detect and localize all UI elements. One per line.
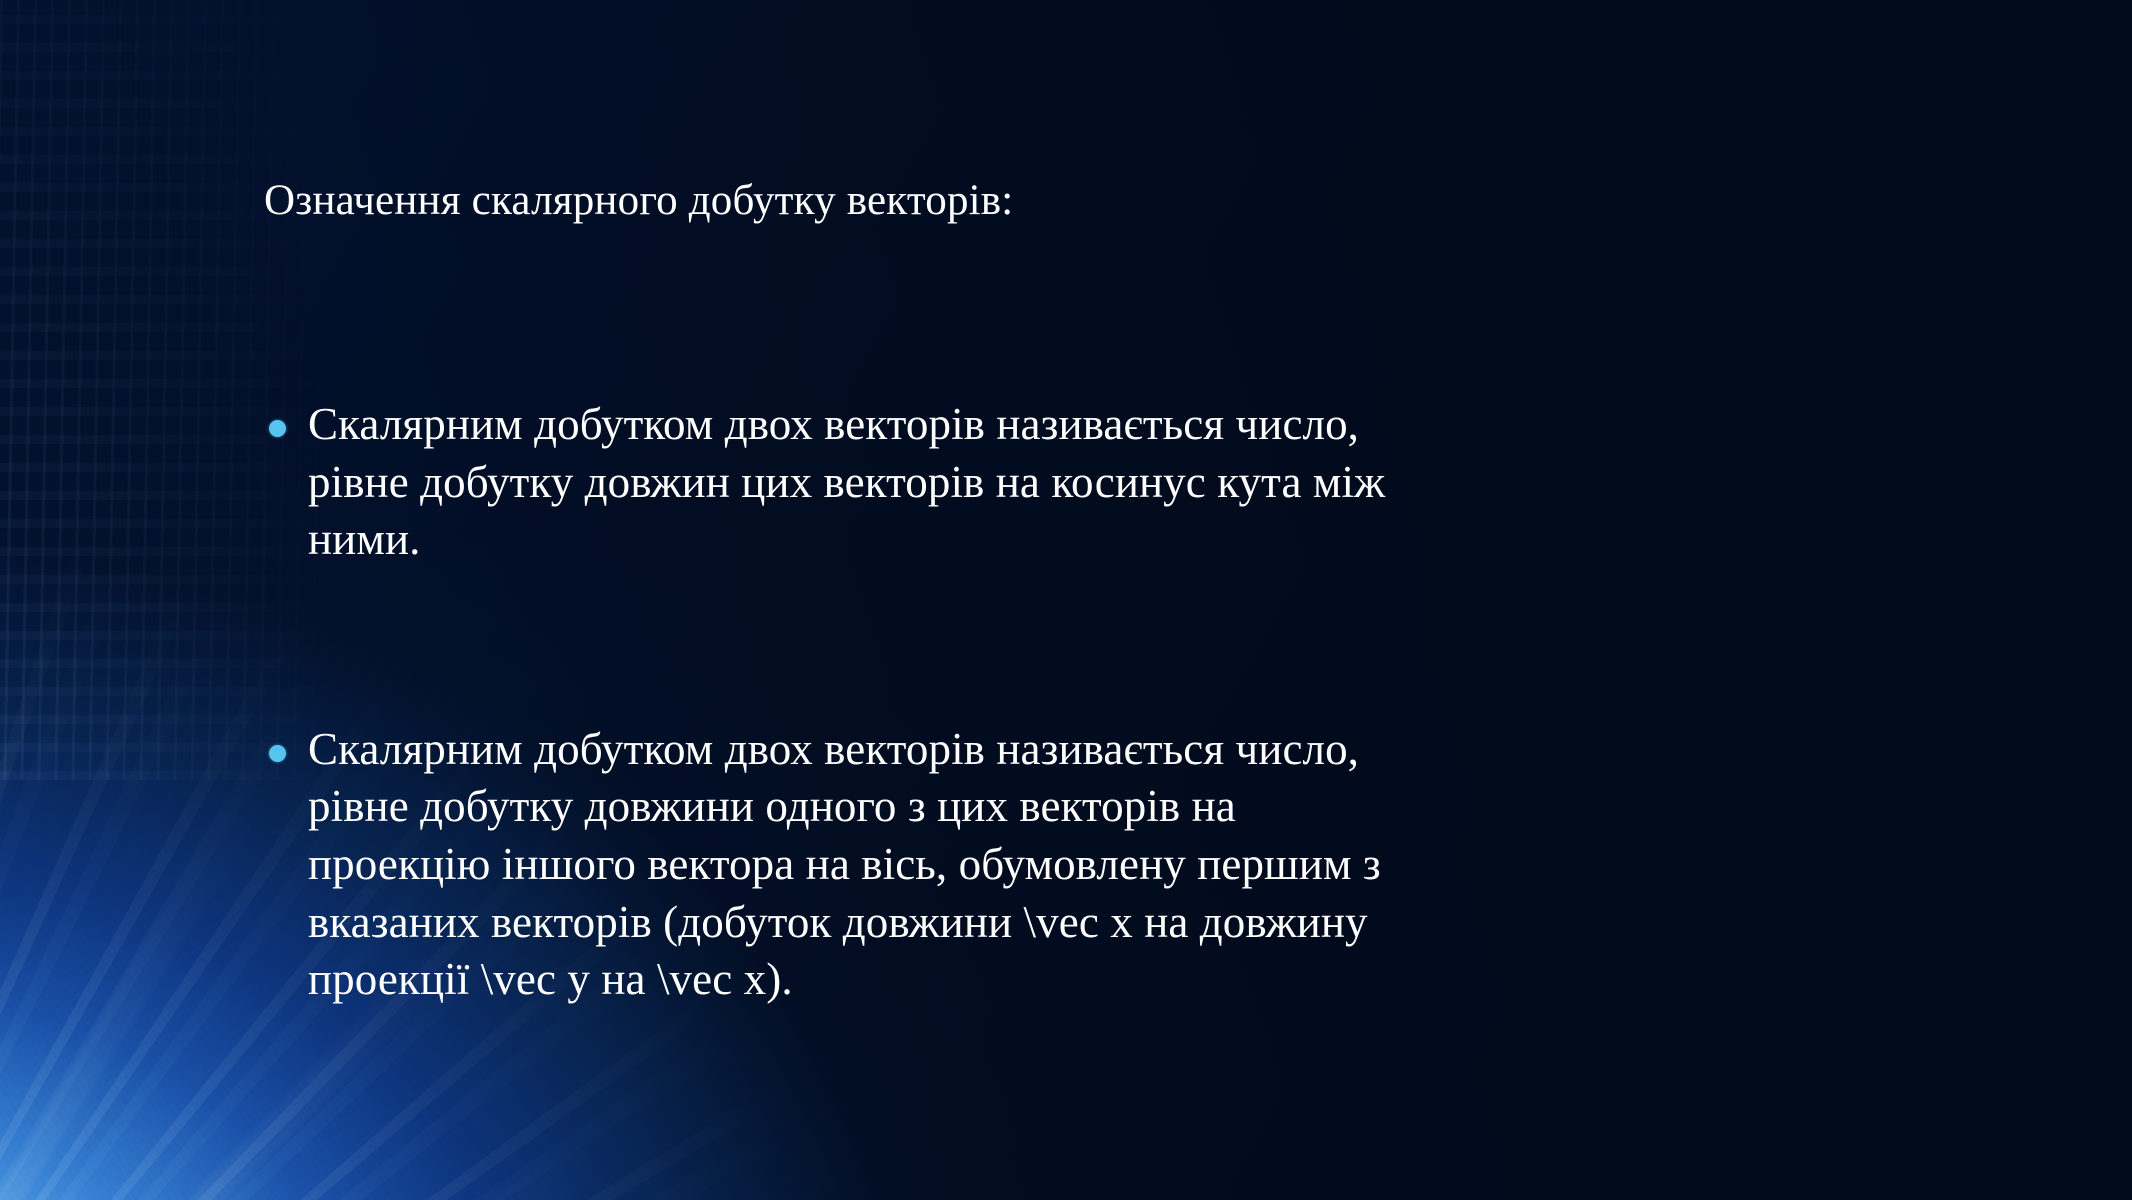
- list-item: Скалярним добутком двох векторів називає…: [264, 396, 1824, 569]
- slide-content: Означення скалярного добутку векторів: С…: [0, 0, 2132, 1200]
- presentation-slide: Означення скалярного добутку векторів: С…: [0, 0, 2132, 1200]
- list-item-text: Скалярним добутком двох векторів називає…: [308, 396, 1824, 569]
- bullet-dot-icon: [269, 420, 286, 437]
- slide-title: Означення скалярного добутку векторів:: [264, 176, 1764, 225]
- list-item-text: Скалярним добутком двох векторів називає…: [308, 721, 1824, 1009]
- list-item: Скалярним добутком двох векторів називає…: [264, 721, 1824, 1009]
- bullet-dot-icon: [269, 745, 286, 762]
- bullet-list: Скалярним добутком двох векторів називає…: [264, 396, 1824, 1009]
